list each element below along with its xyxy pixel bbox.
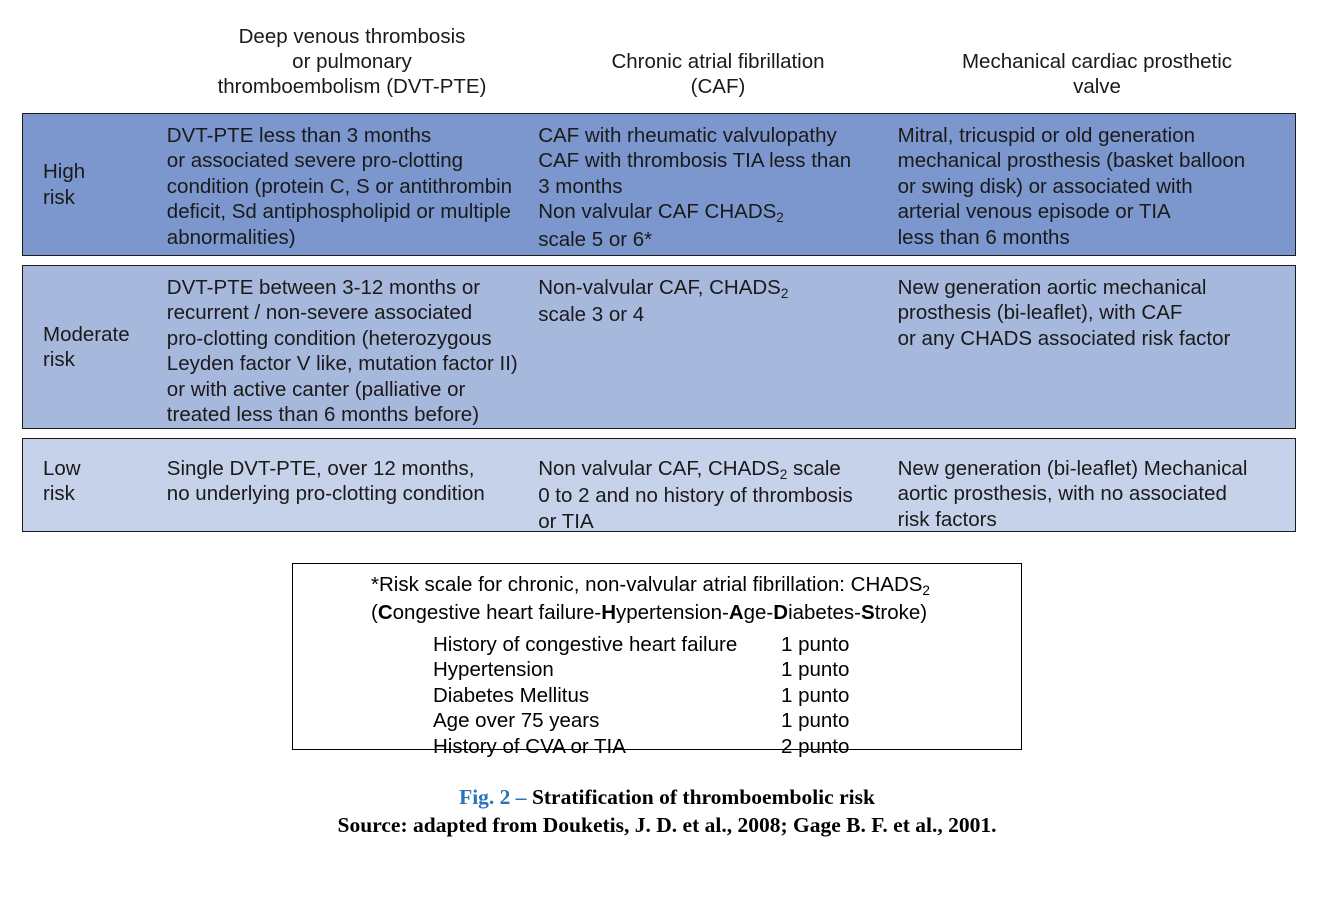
risk-level-high-line1: High: [43, 159, 85, 184]
legend-score-list: History of congestive heart failure1 pun…: [293, 632, 1021, 759]
header-dvt-pte-line1: Deep venous thrombosis: [166, 24, 538, 49]
cell-line: DVT-PTE less than 3 months: [167, 123, 532, 148]
cell-line: Non valvular CAF, CHADS2 scale: [538, 456, 897, 483]
cell-high-valve: Mitral, tricuspid or old generationmecha…: [898, 114, 1295, 255]
cell-line: or associated severe pro-clotting: [167, 148, 532, 173]
cell-line: Non valvular CAF CHADS2: [538, 199, 897, 226]
cell-line: or any CHADS associated risk factor: [898, 326, 1295, 351]
table-column-headers: Deep venous thrombosis or pulmonary thro…: [22, 24, 1296, 99]
cell-moderate-caf: Non-valvular CAF, CHADS2scale 3 or 4: [538, 266, 897, 428]
header-risk-level-spacer: [22, 24, 166, 99]
cell-line: Single DVT-PTE, over 12 months,: [167, 456, 532, 481]
legend-item-score: 1 punto: [781, 632, 921, 657]
cell-line: CAF with thrombosis TIA less than: [538, 148, 897, 173]
legend-item-score: 1 punto: [781, 683, 921, 708]
figure-caption: Fig. 2 – Stratification of thromboemboli…: [0, 783, 1334, 839]
figure-caption-title: Fig. 2 – Stratification of thromboemboli…: [0, 783, 1334, 811]
cell-line: or with active canter (palliative or: [167, 377, 532, 402]
header-dvt-pte: Deep venous thrombosis or pulmonary thro…: [166, 24, 538, 99]
header-valve-line2: valve: [898, 74, 1296, 99]
risk-level-label-moderate: Moderate risk: [23, 266, 167, 428]
figure-title: Stratification of thromboembolic risk: [532, 785, 875, 809]
legend-item-score: 1 punto: [781, 708, 921, 733]
cell-line: aortic prosthesis, with no associated: [898, 481, 1295, 506]
cell-line: pro-clotting condition (heterozygous: [167, 326, 532, 351]
legend-item-name: Diabetes Mellitus: [433, 683, 781, 708]
cell-line: or TIA: [538, 509, 897, 534]
cell-line: CAF with rheumatic valvulopathy: [538, 123, 897, 148]
cell-line: Leyden factor V like, mutation factor II…: [167, 351, 532, 376]
cell-line: arterial venous episode or TIA: [898, 199, 1295, 224]
legend-item: Diabetes Mellitus1 punto: [433, 683, 1021, 708]
cell-line: 3 months: [538, 174, 897, 199]
legend-text: iabetes-: [788, 601, 861, 624]
table-row-moderate-risk: Moderate risk DVT-PTE between 3-12 month…: [22, 265, 1296, 429]
cell-high-dvt-pte: DVT-PTE less than 3 monthsor associated …: [167, 114, 538, 255]
legend-item-score: 2 punto: [781, 734, 921, 759]
cell-line: no underlying pro-clotting condition: [167, 481, 532, 506]
legend-acronym-letter: C: [378, 601, 393, 624]
cell-line: deficit, Sd antiphospholipid or multiple: [167, 199, 532, 224]
cell-line: less than 6 months: [898, 225, 1295, 250]
header-caf: Chronic atrial fibrillation (CAF): [538, 24, 898, 99]
header-valve: Mechanical cardiac prosthetic valve: [898, 24, 1296, 99]
table-row-high-risk: High risk DVT-PTE less than 3 monthsor a…: [22, 113, 1296, 256]
header-dvt-pte-line3: thromboembolism (DVT-PTE): [166, 74, 538, 99]
cell-line: risk factors: [898, 507, 1295, 532]
legend-item-score: 1 punto: [781, 657, 921, 682]
legend-item: Age over 75 years1 punto: [433, 708, 1021, 733]
cell-moderate-valve: New generation aortic mechanicalprosthes…: [898, 266, 1295, 428]
figure-source: Source: adapted from Douketis, J. D. et …: [0, 811, 1334, 839]
risk-level-moderate-line1: Moderate: [43, 322, 130, 347]
cell-line: treated less than 6 months before): [167, 402, 532, 427]
legend-title-line2: (Congestive heart failure-Hypertension-A…: [371, 600, 1021, 626]
legend-acronym-letter: D: [773, 601, 788, 624]
cell-line: New generation aortic mechanical: [898, 275, 1295, 300]
risk-level-high-line2: risk: [43, 185, 85, 210]
cell-line: condition (protein C, S or antithrombin: [167, 174, 532, 199]
cell-line: scale 3 or 4: [538, 302, 897, 327]
cell-line: recurrent / non-severe associated: [167, 300, 532, 325]
legend-item: History of congestive heart failure1 pun…: [433, 632, 1021, 657]
risk-level-label-low: Low risk: [23, 439, 167, 531]
legend-title: *Risk scale for chronic, non-valvular at…: [293, 564, 1021, 625]
cell-line: mechanical prosthesis (basket balloon: [898, 148, 1295, 173]
risk-level-low-line2: risk: [43, 481, 81, 506]
legend-item-name: Age over 75 years: [433, 708, 781, 733]
cell-high-caf: CAF with rheumatic valvulopathyCAF with …: [538, 114, 897, 255]
legend-item: Hypertension1 punto: [433, 657, 1021, 682]
legend-text: troke): [875, 601, 927, 624]
legend-title-line1: *Risk scale for chronic, non-valvular at…: [371, 572, 1021, 600]
cell-line: Mitral, tricuspid or old generation: [898, 123, 1295, 148]
table-row-low-risk: Low risk Single DVT-PTE, over 12 months,…: [22, 438, 1296, 532]
header-valve-line1: Mechanical cardiac prosthetic: [898, 49, 1296, 74]
cell-line: Non-valvular CAF, CHADS2: [538, 275, 897, 302]
chads2-legend-box: *Risk scale for chronic, non-valvular at…: [292, 563, 1022, 750]
risk-level-moderate-line2: risk: [43, 347, 130, 372]
cell-line: scale 5 or 6*: [538, 227, 897, 252]
cell-low-valve: New generation (bi-leaflet) Mechanicalao…: [898, 439, 1295, 531]
cell-line: DVT-PTE between 3-12 months or: [167, 275, 532, 300]
legend-item: History of CVA or TIA2 punto: [433, 734, 1021, 759]
header-caf-line1: Chronic atrial fibrillation: [538, 49, 898, 74]
cell-low-caf: Non valvular CAF, CHADS2 scale0 to 2 and…: [538, 439, 897, 531]
legend-item-name: History of CVA or TIA: [433, 734, 781, 759]
header-dvt-pte-line2: or pulmonary: [166, 49, 538, 74]
cell-moderate-dvt-pte: DVT-PTE between 3-12 months orrecurrent …: [167, 266, 538, 428]
cell-low-dvt-pte: Single DVT-PTE, over 12 months,no underl…: [167, 439, 538, 531]
cell-line: 0 to 2 and no history of thrombosis: [538, 483, 897, 508]
legend-acronym-letter: A: [729, 601, 744, 624]
legend-text: ypertension-: [616, 601, 729, 624]
risk-level-low-line1: Low: [43, 456, 81, 481]
figure-number: Fig. 2 –: [459, 785, 532, 809]
cell-line: abnormalities): [167, 225, 532, 250]
legend-item-name: History of congestive heart failure: [433, 632, 781, 657]
legend-text: ge-: [744, 601, 774, 624]
risk-stratification-table: High risk DVT-PTE less than 3 monthsor a…: [22, 113, 1296, 532]
legend-text: (: [371, 601, 378, 624]
legend-item-name: Hypertension: [433, 657, 781, 682]
legend-text: ongestive heart failure-: [393, 601, 602, 624]
cell-line: prosthesis (bi-leaflet), with CAF: [898, 300, 1295, 325]
cell-line: or swing disk) or associated with: [898, 174, 1295, 199]
header-caf-line2: (CAF): [538, 74, 898, 99]
cell-line: New generation (bi-leaflet) Mechanical: [898, 456, 1295, 481]
risk-level-label-high: High risk: [23, 114, 167, 255]
legend-acronym-letter: H: [601, 601, 616, 624]
legend-acronym-letter: S: [861, 601, 875, 624]
